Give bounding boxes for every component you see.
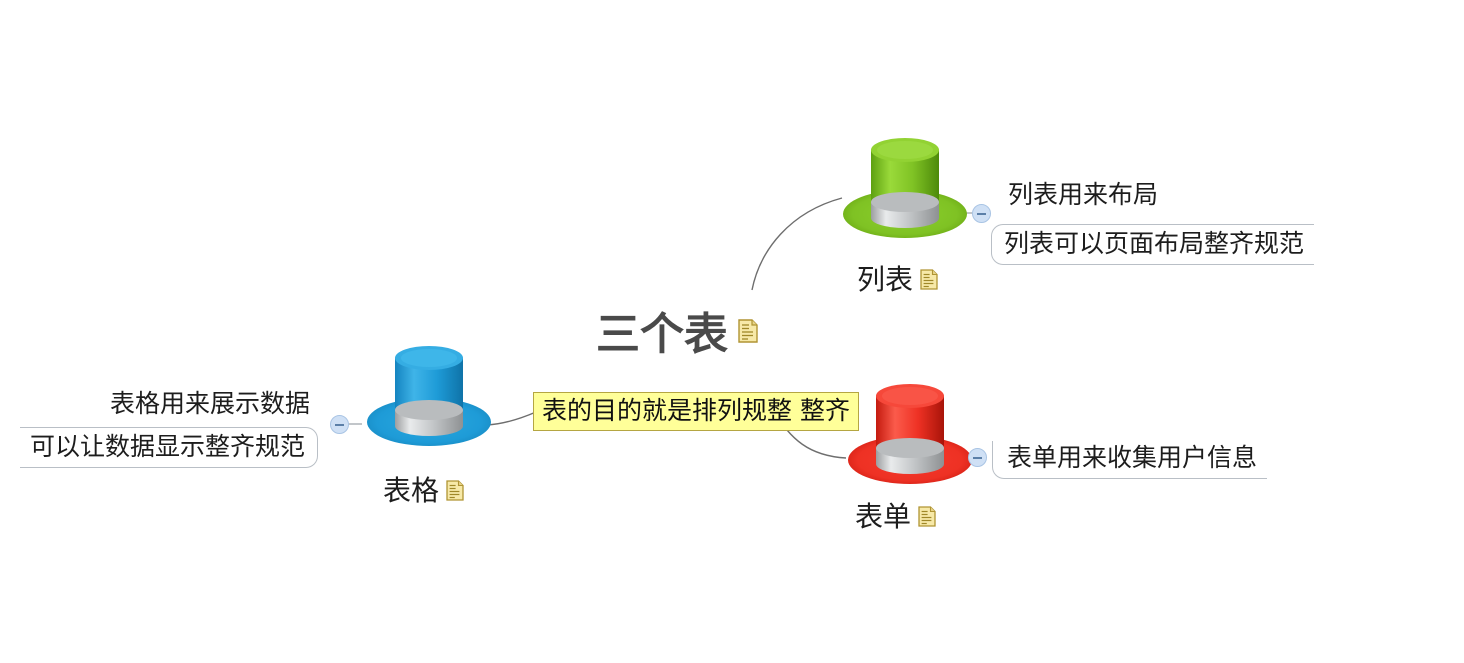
leaf-biaoge-1[interactable]: 可以让数据显示整齐规范 [20, 427, 318, 468]
hat-label-biaodan[interactable]: 表单 [855, 500, 936, 534]
hat-label-biaoge[interactable]: 表格 [383, 474, 464, 508]
branch-label-biaoge: 表格 [383, 474, 439, 507]
collapse-toggle-biaoge[interactable] [330, 415, 349, 434]
leaf-text: 可以让数据显示整齐规范 [30, 432, 305, 461]
leaf-biaoge-0[interactable]: 表格用来展示数据 [110, 389, 310, 419]
leaf-liebiao-1[interactable]: 列表可以页面布局整齐规范 [991, 224, 1314, 265]
note-icon[interactable] [738, 319, 758, 343]
hat-label-liebiao[interactable]: 列表 [857, 263, 938, 297]
hat-icon-biaodan[interactable] [845, 378, 975, 488]
leaf-text: 列表可以页面布局整齐规范 [1004, 229, 1304, 258]
hat-icon-biaoge[interactable] [364, 340, 494, 450]
leaf-text: 表格用来展示数据 [110, 389, 310, 418]
note-icon[interactable] [918, 506, 936, 527]
branch-label-liebiao: 列表 [857, 263, 913, 296]
mindmap-canvas: 三个表 表的目的就是排列规整 整齐 [0, 0, 1464, 663]
root-label: 三个表 [596, 309, 728, 360]
note-icon[interactable] [446, 480, 464, 501]
connector-biaoge-to-root [487, 412, 536, 425]
leaf-text: 列表用来布局 [1008, 180, 1158, 209]
note-icon[interactable] [920, 269, 938, 290]
highlight-node-label: 表的目的就是排列规整 整齐 [542, 396, 850, 425]
branch-label-biaodan: 表单 [855, 500, 911, 533]
highlight-node[interactable]: 表的目的就是排列规整 整齐 [533, 392, 859, 431]
collapse-toggle-liebiao[interactable] [972, 204, 991, 223]
leaf-text: 表单用来收集用户信息 [1007, 443, 1257, 472]
leaf-biaodan-0[interactable]: 表单用来收集用户信息 [992, 441, 1267, 479]
connector-root-to-liebiao [752, 198, 842, 290]
leaf-liebiao-0[interactable]: 列表用来布局 [1008, 180, 1158, 210]
collapse-toggle-biaodan[interactable] [968, 448, 987, 467]
hat-icon-liebiao[interactable] [840, 132, 970, 242]
root-node[interactable]: 三个表 [596, 309, 758, 361]
